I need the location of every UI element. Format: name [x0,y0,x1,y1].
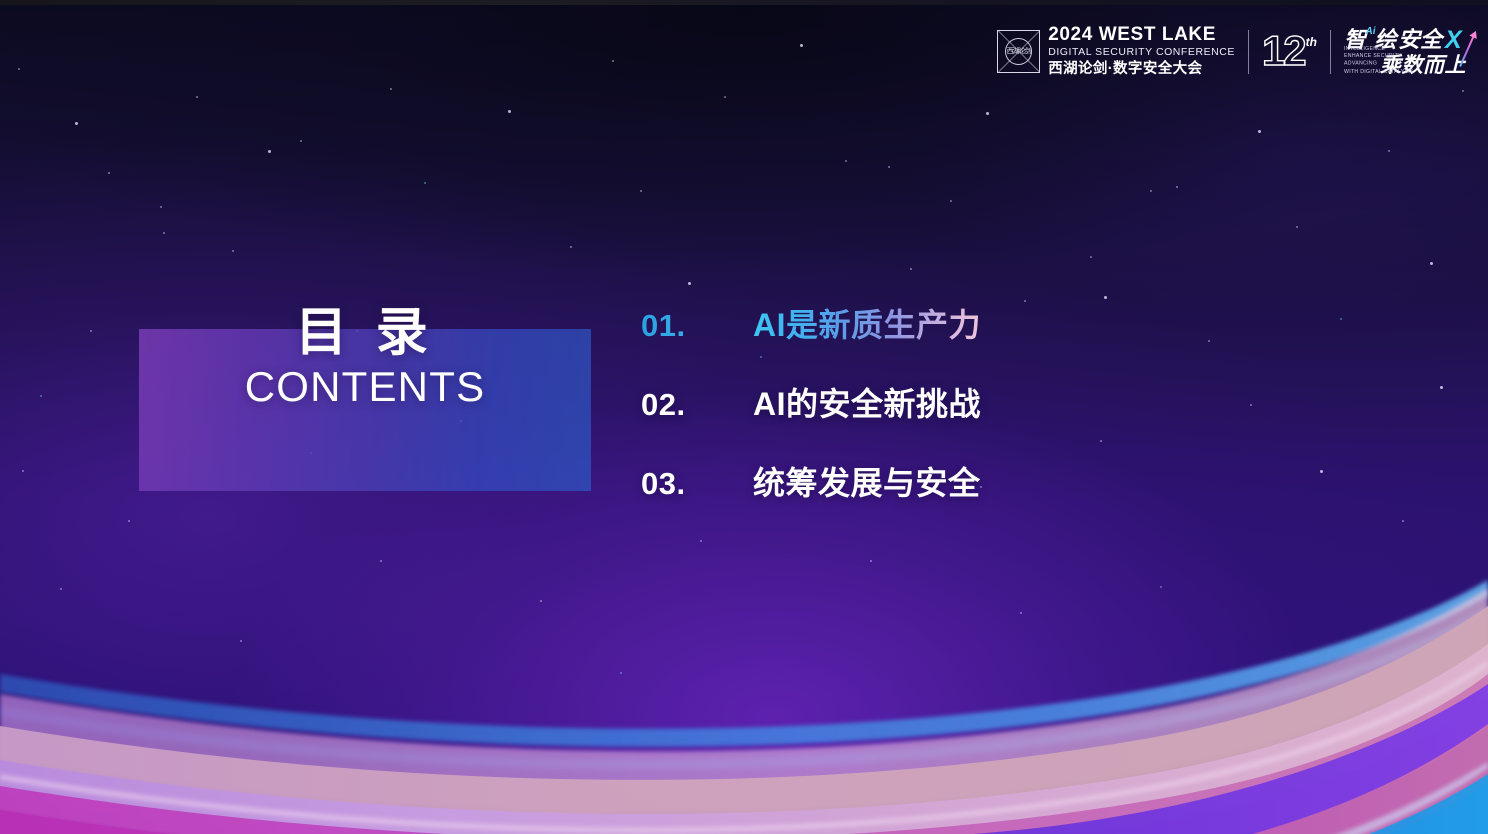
conference-name-zh: 西湖论剑·数字安全大会 [1048,60,1235,78]
agenda-item-03-label: 统筹发展与安全 [753,458,981,504]
conference-name-en-secondary: DIGITAL SECURITY CONFERENCE [1048,45,1235,59]
slogan-word-anquan: 安全 [1398,29,1442,51]
slogan-en-line-3: ADVANCING [1344,61,1390,69]
page-title-zh: 目 录 [295,306,434,361]
agenda-item-01[interactable]: 01. AI是新质生产力 [641,300,981,346]
west-lake-emblem-icon: 西湖论剑 [997,30,1040,73]
slogan-row-2: INTELLIGENCE ENHANCE SECURITY ADVANCING … [1344,55,1466,76]
slogan-english-lines: INTELLIGENCE ENHANCE SECURITY ADVANCING … [1344,45,1390,75]
edition-badge: 12 th [1262,32,1317,71]
agenda-item-01-number: 01. [641,308,753,344]
slogan-logo: 智 Ai 绘 安全 X INTELLIGENCE ENHANCE SECURIT… [1344,28,1466,76]
presentation-slide: 西湖论剑 2024 WEST LAKE DIGITAL SECURITY CON… [0,0,1488,834]
agenda-item-03[interactable]: 03. 统筹发展与安全 [641,458,981,504]
top-edge-strip [0,0,1488,5]
agenda-item-02-label: AI的安全新挑战 [753,379,981,425]
contents-title-group: 目 录 CONTENTS [139,306,591,436]
slogan-en-line-2: ENHANCE SECURITY [1344,53,1390,61]
agenda-item-03-number: 03. [641,466,753,502]
page-title-en: CONTENTS [245,363,486,410]
slogan-en-line-1: INTELLIGENCE [1344,45,1390,53]
slogan-ai-mark: Ai [1366,27,1376,37]
logo-divider-1 [1248,30,1249,74]
header-logo-bar: 西湖论剑 2024 WEST LAKE DIGITAL SECURITY CON… [997,25,1466,78]
agenda-item-01-label: AI是新质生产力 [753,300,981,346]
emblem-inner-ring: 西湖论剑 [1005,38,1032,65]
logo-divider-2 [1330,30,1331,74]
edition-ordinal-suffix: th [1306,35,1317,49]
agenda-item-02-number: 02. [641,387,753,423]
agenda-item-02[interactable]: 02. AI的安全新挑战 [641,379,981,425]
conference-logo-text: 2024 WEST LAKE DIGITAL SECURITY CONFEREN… [1048,25,1235,78]
slogan-x-mark: X [1445,28,1462,53]
conference-name-en-primary: 2024 WEST LAKE [1048,25,1235,45]
agenda-list: 01. AI是新质生产力 02. AI的安全新挑战 03. 统筹发展与安全 [641,300,981,504]
conference-logo: 西湖论剑 2024 WEST LAKE DIGITAL SECURITY CON… [997,25,1235,78]
edition-number: 12 [1262,32,1305,71]
slogan-en-line-4: WITH DIGITAL CATALYSIS [1344,68,1390,76]
